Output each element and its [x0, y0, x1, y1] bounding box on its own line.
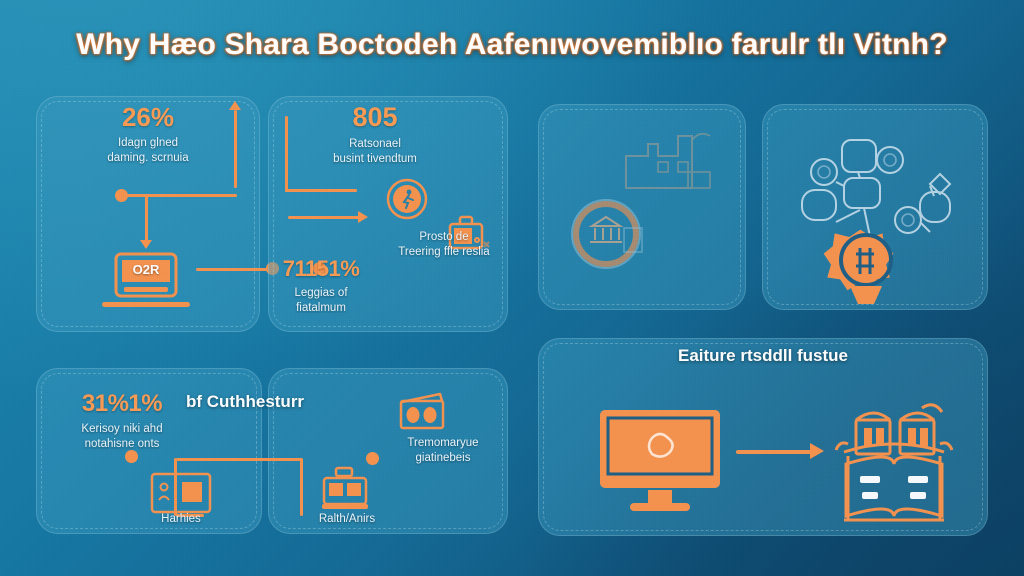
stat-26-percent: 26% Idagn glned daming. scrnuia: [78, 104, 218, 166]
page-title: Why Hæo Shara Boctodeh Aafenıwovemiblıo …: [0, 28, 1024, 62]
stat-805: 805 Ratsonael busint tivendtum: [300, 104, 450, 167]
arrow-right-icon: [358, 211, 368, 223]
laptop-screen-text: O2R: [100, 262, 192, 277]
connector-horizontal: [288, 216, 360, 219]
stat-value: 805: [300, 104, 450, 131]
icon-label-ralth-anirs: Ralth/Anirs: [300, 512, 394, 527]
network-badge-icon: [780, 124, 980, 304]
connector-dot: [366, 452, 379, 465]
connector-horizontal: [736, 450, 812, 454]
stat-caption: Ratsonael busint tivendtum: [300, 137, 450, 167]
stat-caption: Leggias of fiatalmum: [256, 286, 386, 316]
icon-caption: Prosto de Treering ffle reslia: [368, 230, 520, 260]
document-card-icon: [148, 470, 214, 516]
stat-value: 31%1%: [52, 392, 192, 416]
infographic-canvas: Why Hæo Shara Boctodeh Aafenıwovemiblıo …: [0, 0, 1024, 576]
connector-horizontal: [125, 194, 237, 197]
stat-value: 71151%: [256, 258, 386, 280]
connector-horizontal: [176, 458, 302, 461]
connector-vertical: [285, 116, 288, 192]
runner-badge-icon: [386, 178, 428, 220]
book-building-icon: [826, 394, 962, 530]
bank-seal-icon: [566, 192, 650, 276]
connector-vertical: [145, 196, 148, 242]
monitor-icon: [596, 406, 724, 516]
connector-dot: [125, 450, 138, 463]
icon-caption-tremomaryue: Tremomaryue giatinebeis: [378, 436, 508, 466]
icon-label-harhies: Harhies: [140, 512, 222, 527]
cash-register-icon: [318, 466, 372, 516]
connector-dot: [115, 189, 128, 202]
stat-31-percent: 31%1% Kerisoy niki ahd notahisne onts: [52, 392, 192, 452]
stat-value: 26%: [78, 104, 218, 130]
stat-caption: Kerisoy niki ahd notahisne onts: [52, 422, 192, 452]
connector-horizontal: [285, 189, 357, 192]
stat-71151: 71151% Leggias of fiatalmum: [256, 258, 386, 316]
connector-vertical: [234, 110, 237, 188]
wallet-icon: [396, 390, 452, 434]
section-heading-cuthhesturr: bf Cuthhesturr: [186, 392, 304, 412]
laptop-icon: [100, 250, 192, 320]
factory-icon: [622, 126, 718, 192]
arrow-down-icon: [140, 240, 152, 249]
arrow-right-icon: [810, 443, 824, 459]
section-heading-eaiture: Eaiture rtsddll fustue: [538, 346, 988, 366]
stat-caption: Idagn glned daming. scrnuia: [78, 136, 218, 166]
connector-vertical: [300, 458, 303, 516]
arrow-up-icon: [229, 101, 241, 110]
